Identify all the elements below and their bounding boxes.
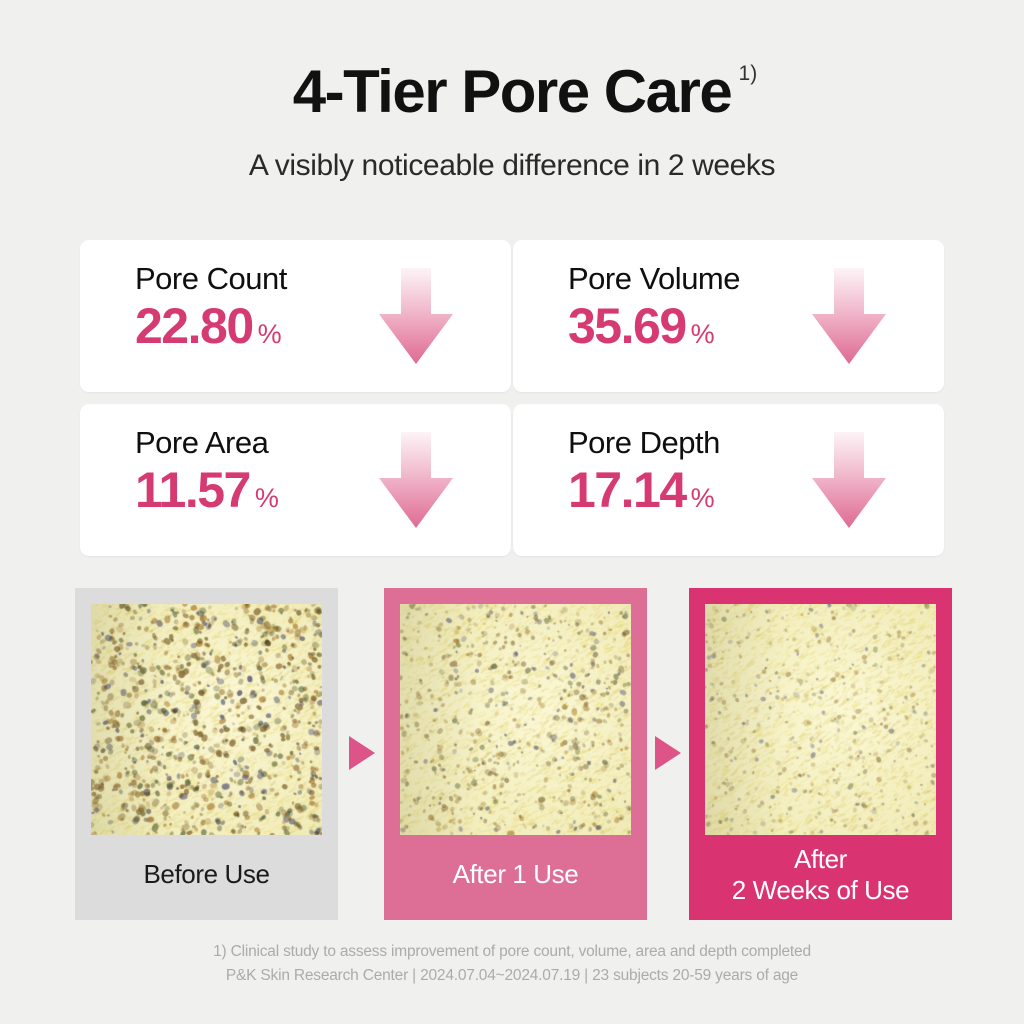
title-footnote-marker: 1) (739, 62, 758, 86)
metric-value: 35.69 (568, 300, 686, 353)
metric-card-grid: Pore Count 22.80 % Pore Volume 35.69 (80, 240, 944, 556)
metric-unit: % (691, 319, 715, 350)
triangle-right-icon (349, 736, 375, 770)
metric-unit: % (691, 483, 715, 514)
skin-micrograph-after-1-use (400, 604, 631, 835)
metric-card-pore-area: Pore Area 11.57 % (80, 404, 511, 556)
panel-caption-text: After 2 Weeks of Use (732, 844, 909, 905)
infographic-page: 4-Tier Pore Care 1) A visibly noticeable… (0, 0, 1024, 1024)
header: 4-Tier Pore Care 1) A visibly noticeable… (0, 0, 1024, 183)
panel-caption-line1: Before Use (143, 859, 269, 890)
metric-label: Pore Volume (568, 262, 944, 296)
skin-micrograph-after-2-weeks (705, 604, 936, 835)
metric-value-row: 17.14 % (568, 464, 944, 517)
panel-caption-line1: After 1 Use (453, 859, 579, 890)
panel-caption: Before Use (143, 835, 269, 920)
metric-label: Pore Depth (568, 426, 944, 460)
panel-caption: After 1 Use (453, 835, 579, 920)
metric-value-row: 11.57 % (135, 464, 511, 517)
panel-caption: After 2 Weeks of Use (732, 835, 909, 920)
arrow-down-icon (812, 268, 886, 364)
title-row: 4-Tier Pore Care 1) (293, 60, 731, 123)
footnote: 1) Clinical study to assess improvement … (0, 940, 1024, 988)
skin-micrograph-before (91, 604, 322, 835)
arrow-down-icon (379, 432, 453, 528)
metric-value: 22.80 (135, 300, 253, 353)
metric-card-pore-count: Pore Count 22.80 % (80, 240, 511, 392)
footnote-line-2: P&K Skin Research Center | 2024.07.04~20… (0, 964, 1024, 988)
metric-label: Pore Area (135, 426, 511, 460)
triangle-right-icon (655, 736, 681, 770)
footnote-line-1: 1) Clinical study to assess improvement … (0, 940, 1024, 964)
metric-value: 11.57 (135, 464, 250, 517)
metric-unit: % (255, 483, 279, 514)
metric-unit: % (258, 319, 282, 350)
arrow-down-icon (812, 432, 886, 528)
metric-label: Pore Count (135, 262, 511, 296)
metric-card-pore-depth: Pore Depth 17.14 % (513, 404, 944, 556)
metric-card-pore-volume: Pore Volume 35.69 % (513, 240, 944, 392)
arrow-down-icon (379, 268, 453, 364)
page-subtitle: A visibly noticeable difference in 2 wee… (0, 149, 1024, 183)
comparison-panel-after-2-weeks: After 2 Weeks of Use (689, 588, 952, 920)
panel-caption-line1: After (794, 844, 847, 874)
page-title: 4-Tier Pore Care (293, 60, 731, 123)
metric-value-row: 22.80 % (135, 300, 511, 353)
comparison-panel-after-1-use: After 1 Use (384, 588, 647, 920)
metric-value-row: 35.69 % (568, 300, 944, 353)
comparison-panels: Before Use After 1 Use After 2 (0, 588, 1024, 920)
panel-caption-line2: 2 Weeks of Use (732, 875, 909, 905)
metric-value: 17.14 (568, 464, 686, 517)
comparison-panel-before: Before Use (75, 588, 338, 920)
